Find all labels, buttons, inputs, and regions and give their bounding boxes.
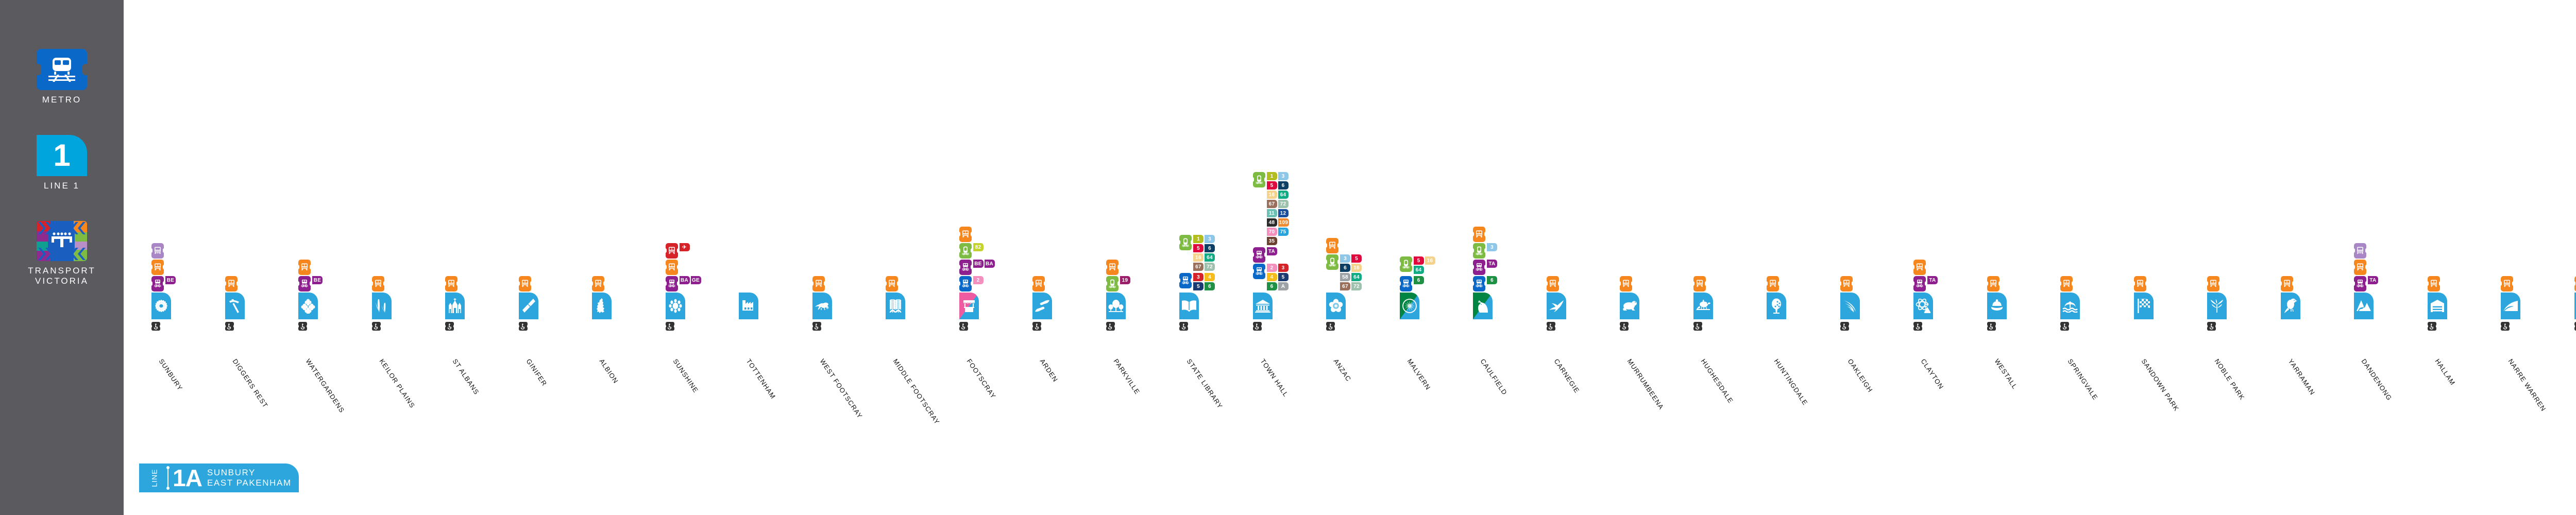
accessibility-icon	[225, 322, 234, 331]
vline-icon[interactable]	[666, 276, 678, 291]
station-tile[interactable]	[1620, 293, 1639, 319]
route-badge[interactable]: BE	[165, 276, 176, 284]
station-tile[interactable]	[1400, 293, 1419, 319]
station-tile[interactable]	[2281, 293, 2300, 319]
station-name: YARRAMAN	[2286, 357, 2316, 397]
route-badge[interactable]: TA	[1927, 276, 1938, 284]
bus-icon[interactable]	[2574, 276, 2576, 291]
station-tile[interactable]	[1179, 293, 1199, 319]
station-name: DANDENONG	[2360, 357, 2394, 402]
route-badge[interactable]: 3	[1487, 243, 1497, 251]
route-badge[interactable]: A	[1278, 282, 1289, 290]
line-badge-termini: SUNBURY EAST PAKENHAM	[207, 468, 292, 488]
route-badges: 6	[1414, 276, 1440, 285]
mode-row-bus	[1767, 276, 1779, 291]
route-badge[interactable]: 4	[1267, 273, 1277, 281]
tram-icon[interactable]	[1106, 276, 1118, 291]
route-badge[interactable]: 3	[1340, 254, 1350, 263]
bus-icon[interactable]	[2060, 276, 2073, 291]
route-badges: TA	[2368, 276, 2395, 285]
station-name: SPRINGVALE	[2066, 357, 2100, 402]
interchange-modes: 651664	[1400, 255, 1440, 291]
metro-icon[interactable]	[959, 276, 972, 291]
line-number-tile: 1	[37, 135, 87, 176]
station-tile[interactable]	[2134, 293, 2154, 319]
station-name: GINIFER	[524, 357, 548, 387]
mode-row-bus	[2207, 276, 2219, 291]
route-badge[interactable]: 67	[1267, 200, 1277, 208]
mode-row-metro: 3456	[1179, 273, 1220, 291]
station-tile[interactable]	[2354, 293, 2374, 319]
station-name: HUGHESDALE	[1699, 357, 1735, 405]
interchange-modes	[592, 275, 604, 291]
route-badge[interactable]: 6	[1205, 244, 1215, 252]
route-badge[interactable]: 5	[1351, 254, 1362, 263]
route-badge[interactable]: 64	[1414, 266, 1424, 274]
route-badges: ✈	[680, 243, 706, 252]
station-name: CARNEGIE	[1552, 357, 1581, 394]
station-tile[interactable]	[298, 293, 318, 319]
station-tile[interactable]	[1473, 293, 1493, 319]
route-badge[interactable]: 67	[1340, 282, 1350, 290]
interchange-modes: 2BEBA82	[959, 226, 1000, 291]
station-tile[interactable]	[2574, 293, 2576, 319]
route-badge[interactable]: 3	[1278, 264, 1289, 272]
tram-icon[interactable]	[1326, 254, 1338, 270]
route-badge[interactable]: 64	[1205, 253, 1215, 262]
route-badge[interactable]: 6	[1205, 282, 1215, 290]
mode-row-bus	[519, 276, 531, 291]
route-badge[interactable]: BA	[985, 260, 995, 268]
station-tile[interactable]	[1767, 293, 1786, 319]
mode-row-bus	[886, 276, 898, 291]
mode-row-bus	[1987, 276, 1999, 291]
accessibility-icon	[2060, 322, 2069, 331]
metro-icon[interactable]	[1473, 276, 1485, 291]
terminus-b: EAST PAKENHAM	[207, 478, 292, 488]
mode-row-tram: 19	[1106, 276, 1147, 291]
interchange-modes	[2060, 275, 2073, 291]
station-tile[interactable]	[886, 293, 905, 319]
nightbus-icon[interactable]	[2354, 243, 2366, 259]
route-badge[interactable]: 5	[1278, 273, 1289, 281]
mode-row-bus	[1547, 276, 1559, 291]
station-tile[interactable]	[2428, 293, 2447, 319]
bus-icon[interactable]	[959, 227, 972, 242]
mode-row-bus	[592, 276, 604, 291]
line-badge-word: LINE	[150, 469, 159, 487]
vline-icon[interactable]	[2354, 276, 2366, 291]
route-badge[interactable]: GE	[691, 276, 701, 284]
route-badge[interactable]: 4	[1205, 273, 1215, 281]
accessibility-icon	[1620, 322, 1629, 331]
route-badge[interactable]: 5	[1414, 256, 1424, 265]
interchange-modes	[1987, 275, 1999, 291]
station-tile[interactable]	[592, 293, 612, 319]
route-badge[interactable]: 16	[1267, 191, 1277, 199]
route-badge[interactable]: 6	[1267, 282, 1277, 290]
line-brand-mark: 1 LINE 1	[37, 135, 87, 191]
mode-row-bus	[1620, 276, 1632, 291]
station-name: CAULFIELD	[1479, 357, 1509, 397]
bus-icon[interactable]	[812, 276, 825, 291]
route-badge[interactable]: TA	[1267, 247, 1277, 255]
interchange-modes	[2501, 275, 2513, 291]
station-tile[interactable]	[1840, 293, 1860, 319]
mode-row-nightbus	[2354, 243, 2366, 259]
station-name: STATE LIBRARY	[1185, 357, 1225, 410]
interchange-modes	[2134, 275, 2146, 291]
station-tile[interactable]	[1547, 293, 1566, 319]
metro-icon[interactable]	[1400, 276, 1412, 291]
tram-icon[interactable]	[1473, 243, 1485, 259]
accessibility-icon	[1106, 322, 1115, 331]
accessibility-icon	[1253, 322, 1262, 331]
mode-row-vline: TA	[2354, 276, 2395, 291]
mode-row-bus	[298, 260, 311, 275]
interchange-modes	[2574, 275, 2576, 291]
station-tile[interactable]	[739, 293, 758, 319]
interchange-modes: BAGE✈	[666, 242, 706, 291]
bus-icon[interactable]	[2134, 276, 2146, 291]
route-badge[interactable]: TA	[2368, 276, 2378, 284]
accessibility-icon	[1840, 322, 1849, 331]
route-badge[interactable]: 82	[973, 243, 984, 251]
route-badge[interactable]: 72	[1205, 263, 1215, 271]
mode-row-bus	[372, 276, 384, 291]
route-badges: 6	[1487, 276, 1514, 285]
accessibility-icon	[2501, 322, 2510, 331]
route-badges: TA	[1927, 276, 1954, 285]
line-label: LINE 1	[44, 181, 80, 191]
bus-icon[interactable]	[1693, 276, 1706, 291]
bus-icon[interactable]	[592, 276, 604, 291]
route-badges: 82	[973, 243, 1000, 252]
mode-row-tram: 3	[1473, 243, 1514, 259]
mode-row-vline: TA	[1913, 276, 1954, 291]
tram-icon[interactable]	[1400, 256, 1412, 272]
accessibility-icon	[151, 322, 160, 331]
route-badges: 19	[1120, 276, 1147, 285]
bus-icon[interactable]	[1473, 227, 1485, 242]
route-badge[interactable]: 70	[1267, 228, 1277, 236]
station-name: WEST FOOTSCRAY	[818, 357, 864, 420]
interchange-modes	[812, 275, 825, 291]
mode-row-bus	[2060, 276, 2073, 291]
mode-row-nightbus	[151, 243, 164, 259]
station-tile[interactable]	[1693, 293, 1713, 319]
accessibility-icon	[519, 322, 528, 331]
route-badge[interactable]: 19	[1120, 276, 1130, 284]
route-badge[interactable]: 5	[1193, 282, 1204, 290]
station-tile[interactable]	[151, 293, 171, 319]
accessibility-icon	[445, 322, 454, 331]
route-badge[interactable]: 75	[1278, 228, 1289, 236]
route-badge[interactable]: 6	[1487, 276, 1497, 284]
interchange-modes: 3561658646772	[1326, 237, 1367, 291]
route-badge[interactable]: ✈	[680, 243, 690, 251]
station-name: ANZAC	[1332, 357, 1353, 383]
transport-victoria-mark: TRANSPORTVICTORIA	[28, 221, 96, 286]
mode-row-bus	[1106, 260, 1118, 275]
station-name: DIGGERS REST	[231, 357, 269, 409]
line-1a-badge: LINE 1A SUNBURY EAST PAKENHAM	[139, 463, 299, 492]
route-badge[interactable]: 6	[1278, 181, 1289, 190]
bus-icon[interactable]	[2428, 276, 2440, 291]
route-badges: BE	[165, 276, 192, 285]
line-diagram-page: METRO 1 LINE 1	[0, 0, 2576, 515]
bus-icon[interactable]	[2207, 276, 2219, 291]
mode-row-vline: BEBA	[959, 260, 1000, 275]
route-badge[interactable]: 16	[1425, 256, 1435, 265]
interchange-modes	[225, 275, 238, 291]
tram-icon[interactable]	[1253, 172, 1265, 187]
station-name: WESTALL	[1993, 357, 2019, 390]
mode-row-bus	[1840, 276, 1853, 291]
route-badge[interactable]: BE	[973, 260, 984, 268]
line-badge-number: 1A	[173, 466, 202, 490]
terminus-a: SUNBURY	[207, 468, 292, 478]
bus-icon[interactable]	[519, 276, 531, 291]
station-tile[interactable]	[1106, 293, 1126, 319]
accessibility-icon	[2574, 322, 2576, 331]
accessibility-icon	[666, 322, 674, 331]
accessibility-icon	[1987, 322, 1996, 331]
mode-row-bus	[445, 276, 457, 291]
station-name: HUNTINGDALE	[1773, 357, 1809, 407]
line-badge-separator	[167, 468, 168, 488]
metro-icon[interactable]	[1253, 264, 1265, 279]
station-name: CLAYTON	[1920, 357, 1945, 391]
route-badge[interactable]: 3	[1278, 172, 1289, 180]
route-badge[interactable]: 11	[1267, 209, 1277, 217]
station-name: HALLAM	[2433, 357, 2456, 387]
mode-row-bus	[959, 227, 972, 242]
station-tile[interactable]	[1913, 293, 1933, 319]
route-badge[interactable]: 1	[1193, 235, 1204, 243]
accessibility-icon	[959, 322, 968, 331]
route-badges: BAGE	[680, 276, 706, 285]
route-badge[interactable]: 2	[1267, 264, 1277, 272]
station-name: SUNBURY	[158, 357, 184, 392]
route-badge[interactable]: 16	[1351, 264, 1362, 272]
station-name: SANDOWN PARK	[2140, 357, 2180, 413]
bus-icon[interactable]	[666, 260, 678, 275]
interchange-modes: TA	[1913, 259, 1954, 291]
accessibility-icon	[1032, 322, 1041, 331]
station-name: ARDEN	[1039, 357, 1060, 384]
metro-brand-mark: METRO	[37, 49, 87, 105]
station-tile[interactable]	[1987, 293, 2007, 319]
route-badge[interactable]: 5	[1267, 181, 1277, 190]
mode-row-bus	[2574, 276, 2576, 291]
mode-row-bus	[2281, 276, 2293, 291]
station-name: MURRUMBEENA	[1626, 357, 1666, 411]
bus-icon[interactable]	[1767, 276, 1779, 291]
station-name: NOBLE PARK	[2213, 357, 2247, 402]
bus-icon[interactable]	[2354, 260, 2366, 275]
mode-row-tram: 51664	[1400, 256, 1440, 275]
route-badges: 2	[973, 276, 1000, 285]
mode-row-bus	[2501, 276, 2513, 291]
route-badge[interactable]: 64	[1278, 191, 1289, 199]
mode-row-skybus: ✈	[666, 243, 706, 259]
bus-icon[interactable]	[1326, 238, 1338, 253]
vline-icon[interactable]	[959, 260, 972, 275]
interchange-modes: 3456135616646772	[1179, 234, 1220, 291]
accessibility-icon	[372, 322, 381, 331]
line-canvas: BESUNBURYDIGGERS RESTBEWATERGARDENSKEILO…	[124, 0, 2576, 515]
interchange-modes: BE	[151, 242, 192, 291]
route-badge[interactable]: TA	[1487, 260, 1497, 268]
mode-row-bus	[1693, 276, 1706, 291]
skybus-icon[interactable]	[666, 243, 678, 259]
station-name: PARKVILLE	[1112, 357, 1141, 396]
bus-icon[interactable]	[1106, 260, 1118, 275]
train-icon	[37, 49, 87, 90]
route-badge[interactable]: 16	[1193, 253, 1204, 262]
accessibility-icon	[2428, 322, 2436, 331]
bus-icon[interactable]	[151, 260, 164, 275]
left-brand-rail: METRO 1 LINE 1	[0, 0, 124, 515]
interchange-modes	[445, 275, 457, 291]
accessibility-icon	[298, 322, 307, 331]
interchange-modes: 23456ATA135616646772111248109707535	[1253, 171, 1294, 291]
bus-icon[interactable]	[1913, 260, 1926, 275]
interchange-modes: TA	[2354, 242, 2395, 291]
route-badge[interactable]: 3	[1205, 235, 1215, 243]
mode-row-metro: 6	[1473, 276, 1514, 291]
interchange-modes	[372, 275, 384, 291]
accessibility-icon	[1179, 322, 1188, 331]
bus-icon[interactable]	[1032, 276, 1045, 291]
tram-icon[interactable]	[1179, 235, 1192, 250]
station-tile[interactable]	[1032, 293, 1052, 319]
station-tile[interactable]	[812, 293, 832, 319]
bus-icon[interactable]	[1987, 276, 1999, 291]
mode-row-bus	[1032, 276, 1045, 291]
mode-row-metro: 6	[1400, 276, 1440, 291]
route-badge[interactable]: 72	[1351, 282, 1362, 290]
mode-row-vline: BE	[151, 276, 192, 291]
station-tile[interactable]	[2060, 293, 2080, 319]
vline-icon[interactable]	[151, 276, 164, 291]
station-name: TOWN HALL	[1259, 357, 1290, 398]
mode-row-tram: 135616646772111248109707535	[1253, 172, 1294, 246]
route-badge[interactable]: 35	[1267, 237, 1277, 245]
mode-row-bus	[2428, 276, 2440, 291]
station-name: OAKLEIGH	[1846, 357, 1874, 394]
interchange-modes	[1693, 275, 1706, 291]
route-badge[interactable]: 58	[1340, 273, 1350, 281]
route-badge[interactable]: 1	[1267, 172, 1277, 180]
interchange-modes	[1840, 275, 1853, 291]
route-badge[interactable]: BE	[312, 276, 323, 284]
route-badge[interactable]: 109	[1278, 218, 1290, 227]
interchange-modes	[519, 275, 531, 291]
route-badges: 3456	[1193, 273, 1220, 291]
route-badge[interactable]: 67	[1193, 263, 1204, 271]
mode-row-tram: 135616646772	[1179, 235, 1220, 272]
station-name: ST ALBANS	[451, 357, 481, 396]
route-badge[interactable]: 48	[1267, 218, 1277, 227]
mode-row-vline: BE	[298, 276, 339, 291]
metro-icon[interactable]	[1179, 273, 1192, 288]
station-name: ALBION	[598, 357, 620, 385]
mode-row-vline: TA	[1473, 260, 1514, 275]
station-tile[interactable]	[225, 293, 245, 319]
bus-icon[interactable]	[886, 276, 898, 291]
station-tile[interactable]	[372, 293, 392, 319]
station-tile[interactable]	[2207, 293, 2227, 319]
route-badge[interactable]: 64	[1351, 273, 1362, 281]
interchange-modes: 19	[1106, 259, 1147, 291]
nightbus-icon[interactable]	[151, 243, 164, 259]
station-name: SUNSHINE	[671, 357, 700, 394]
route-badge[interactable]: 72	[1278, 200, 1289, 208]
station-tile[interactable]	[2501, 293, 2520, 319]
route-badge[interactable]: 6	[1414, 276, 1424, 284]
accessibility-icon	[812, 322, 821, 331]
station-tile[interactable]	[519, 293, 538, 319]
route-badges: 23456A	[1267, 264, 1294, 291]
station-tile[interactable]	[1326, 293, 1346, 319]
route-badge[interactable]: 12	[1278, 209, 1289, 217]
tram-icon[interactable]	[959, 243, 972, 259]
bus-icon[interactable]	[1547, 276, 1559, 291]
mode-row-vline: BAGE	[666, 276, 706, 291]
route-badge[interactable]: 5	[1193, 244, 1204, 252]
station-name: NARRE WARREN	[2507, 357, 2548, 413]
interchange-modes	[2207, 275, 2219, 291]
station-tile[interactable]	[1253, 293, 1273, 319]
station-tile[interactable]	[959, 293, 979, 319]
route-badge[interactable]: 6	[1340, 264, 1350, 272]
bus-icon[interactable]	[2281, 276, 2293, 291]
mode-row-vline: TA	[1253, 247, 1294, 263]
bus-icon[interactable]	[298, 260, 311, 275]
route-badge[interactable]: 2	[973, 276, 984, 284]
station-tile[interactable]	[445, 293, 465, 319]
bus-icon[interactable]	[372, 276, 384, 291]
route-badge[interactable]: 3	[1193, 273, 1204, 281]
route-badge[interactable]: BA	[680, 276, 690, 284]
mode-row-bus	[1473, 227, 1485, 242]
bus-icon[interactable]	[2501, 276, 2513, 291]
station-name: MIDDLE FOOTSCRAY	[892, 357, 941, 426]
mode-row-tram: 3561658646772	[1326, 254, 1367, 291]
bus-icon[interactable]	[225, 276, 238, 291]
station-tile[interactable]	[666, 293, 685, 319]
bus-icon[interactable]	[445, 276, 457, 291]
vline-icon[interactable]	[298, 276, 311, 291]
vline-icon[interactable]	[1473, 260, 1485, 275]
route-badges: TA	[1487, 260, 1514, 269]
route-badges: BEBA	[973, 260, 1000, 269]
interchange-modes	[2428, 275, 2440, 291]
interchange-modes	[1547, 275, 1559, 291]
mode-row-bus	[151, 260, 164, 275]
interchange-modes: BE	[298, 259, 339, 291]
station-name: TOTTENHAM	[745, 357, 777, 400]
vline-icon[interactable]	[1913, 276, 1926, 291]
route-badges: 51664	[1414, 256, 1440, 275]
mode-row-bus	[1913, 260, 1926, 275]
bus-icon[interactable]	[1840, 276, 1853, 291]
bus-icon[interactable]	[1620, 276, 1632, 291]
station-name: WATERGARDENS	[304, 357, 346, 414]
vline-icon[interactable]	[1253, 247, 1265, 263]
